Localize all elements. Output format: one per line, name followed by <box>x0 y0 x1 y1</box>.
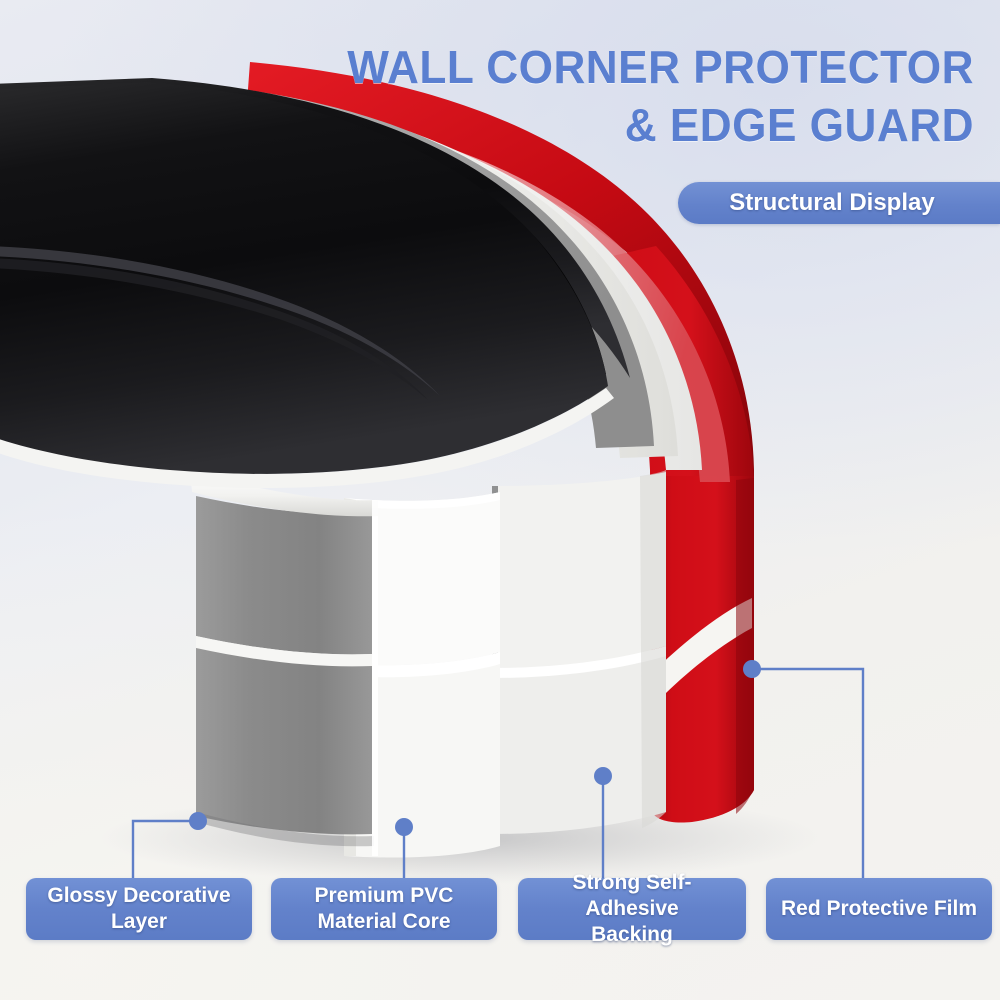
connector-dot-glossy <box>189 812 207 830</box>
connector-dot-pvc <box>395 818 413 836</box>
callout-label-glossy: Glossy Decorative Layer <box>26 878 252 940</box>
connector-dot-film <box>743 660 761 678</box>
connector-dot-adhesive <box>594 767 612 785</box>
status-badge: Structural Display <box>678 182 1000 224</box>
infographic-canvas: WALL CORNER PROTECTOR & EDGE GUARD Struc… <box>0 0 1000 1000</box>
callout-label-adhesive: Strong Self-Adhesive Backing <box>518 878 746 940</box>
callout-label-pvc: Premium PVC Material Core <box>271 878 497 940</box>
callout-label-text: Red Protective Film <box>781 896 977 922</box>
callout-label-text: Glossy Decorative Layer <box>47 883 230 935</box>
core-sheet-separator <box>372 500 378 856</box>
callout-label-text: Premium PVC Material Core <box>315 883 454 935</box>
callout-label-film: Red Protective Film <box>766 878 992 940</box>
page-title: WALL CORNER PROTECTOR & EDGE GUARD <box>187 38 974 154</box>
callout-label-text: Strong Self-Adhesive Backing <box>526 870 738 948</box>
